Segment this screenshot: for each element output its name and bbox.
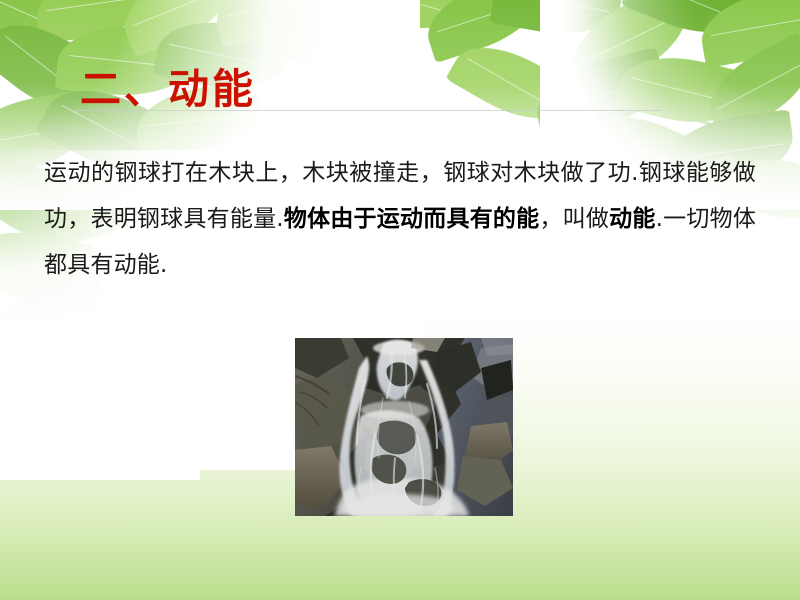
page-title: 二、动能: [80, 68, 256, 111]
waterfall-photo: [295, 338, 513, 516]
body-text-emphasis: 物体由于运动而具有的能: [284, 206, 540, 232]
body-text-run: ，叫做: [539, 206, 609, 232]
body-text-emphasis: 动能: [609, 206, 655, 232]
slide-canvas: 二、动能 运动的钢球打在木块上，木块被撞走，钢球对木块做了功.钢球能够做功，表明…: [0, 0, 800, 600]
waterfall-photo-image: [295, 338, 513, 516]
body-paragraph: 运动的钢球打在木块上，木块被撞走，钢球对木块做了功.钢球能够做功，表明钢球具有能…: [44, 150, 756, 288]
